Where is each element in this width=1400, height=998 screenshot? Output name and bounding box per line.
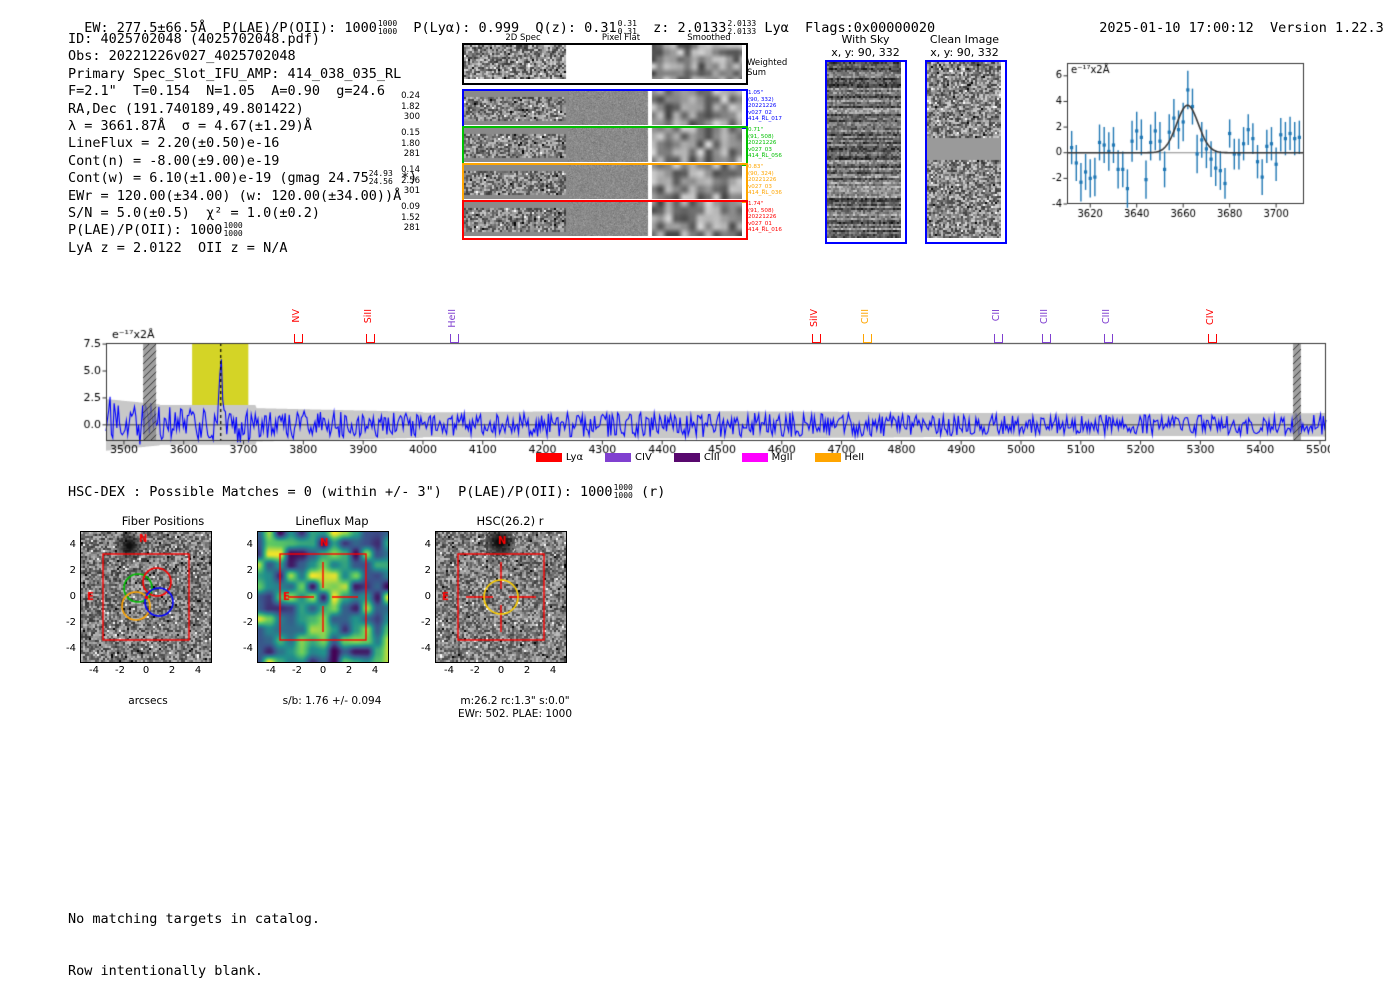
spec2d-col-header-2dspec: 2D Spec bbox=[488, 33, 558, 43]
legend-label: Lyα bbox=[566, 452, 583, 463]
spec2d-row-left-label: 0.14 2.56 301 bbox=[386, 165, 420, 197]
spec2d-row bbox=[462, 126, 748, 166]
legend-swatch bbox=[674, 453, 700, 462]
header-meta: 2025-01-10 17:00:12 Version 1.22.3 bbox=[1083, 4, 1384, 36]
hsc-r-title: HSC(26.2) r bbox=[410, 514, 610, 528]
fiber-positions-xtick: 0 bbox=[139, 665, 153, 676]
spec2d-panel-group: 2D Spec Pixel Flat Smoothed Weighted Sum… bbox=[422, 33, 812, 248]
spec2d-weighted-sum-label: Weighted Sum bbox=[747, 58, 787, 78]
spec2d-col-header-smoothed: Smoothed bbox=[674, 33, 744, 43]
info-lambda-sigma: λ = 3661.87Å σ = 4.67(±1.29)Å bbox=[68, 118, 417, 135]
lineflux-map-xtick: -4 bbox=[264, 665, 278, 676]
emission-line-tick bbox=[812, 334, 821, 343]
hscdex-plae-fraction: 10001000 bbox=[614, 484, 633, 500]
hsc-dex-summary: HSC-DEX : Possible Matches = 0 (within +… bbox=[68, 484, 665, 500]
hsc-r-caption: m:26.2 rc:1.3" s:0.0" EWr: 502. PLAE: 10… bbox=[420, 695, 610, 721]
with-sky-image bbox=[825, 60, 907, 244]
header-version: Version 1.22.3 bbox=[1270, 20, 1384, 36]
info-cont-n: Cont(n) = -8.00(±9.00)e-19 bbox=[68, 153, 417, 170]
lineflux-map-xtick: -2 bbox=[290, 665, 304, 676]
emission-line-marker-ciii: CIII bbox=[1039, 309, 1050, 324]
emission-line-tick bbox=[294, 334, 303, 343]
fiber-positions-ytick: -4 bbox=[58, 643, 76, 654]
hsc-r-ytick: 2 bbox=[413, 565, 431, 576]
emission-line-tick bbox=[450, 334, 459, 343]
lineflux-map-caption: s/b: 1.76 +/- 0.094 bbox=[242, 695, 422, 708]
emission-line-marker-cii: CII bbox=[991, 309, 1002, 321]
legend-label: MgII bbox=[772, 452, 793, 463]
emission-line-marker-ciii: CIII bbox=[860, 309, 871, 324]
with-sky-title: With Sky bbox=[818, 33, 913, 46]
hsc-r-xtick: 2 bbox=[520, 665, 534, 676]
lineflux-map-ytick: -2 bbox=[235, 617, 253, 628]
footer-line-2: Row intentionally blank. bbox=[68, 963, 320, 980]
footer-line-1: No matching targets in catalog. bbox=[68, 911, 320, 928]
info-cont-w: Cont(w) = 6.10(±1.00)e-19 (gmag 24.7524.… bbox=[68, 170, 417, 187]
fiber-positions-xtick: 2 bbox=[165, 665, 179, 676]
fiber-positions-ytick: 0 bbox=[58, 591, 76, 602]
spec2d-weighted-sum-strip bbox=[462, 43, 748, 85]
cutout-panel-group: Fiber Positions arcsecs Lineflux Map s/b… bbox=[0, 505, 1400, 745]
hsc-r-image bbox=[435, 531, 567, 663]
info-id: ID: 4025702048 (4025702048.pdf) bbox=[68, 31, 417, 48]
info-lineflux: LineFlux = 2.20(±0.50)e-16 bbox=[68, 135, 417, 152]
hsc-r-xtick: -4 bbox=[442, 665, 456, 676]
spec2d-row bbox=[462, 89, 748, 129]
clean-image-title: Clean Image bbox=[912, 33, 1017, 46]
spec2d-row-left-label: 0.09 1.52 281 bbox=[386, 202, 420, 234]
legend-label: HeII bbox=[845, 452, 865, 463]
clean-image-image bbox=[925, 60, 1007, 244]
hsc-r-ytick: -2 bbox=[413, 617, 431, 628]
spec2d-row-right-label: 1.05" (90, 332) 20221226 v027_02 414_RL_… bbox=[748, 90, 782, 123]
hsc-r-xtick: 0 bbox=[494, 665, 508, 676]
legend-swatch bbox=[815, 453, 841, 462]
emission-line-marker-siii: SiII bbox=[363, 309, 374, 323]
spec2d-row-right-label: 0.83" (90, 324) 20221226 v027_03 414_RL_… bbox=[748, 164, 782, 197]
info-plae: P(LAE)/P(OII): 100010001000 bbox=[68, 222, 417, 239]
info-radec: RA,Dec (191.740189,49.801422) bbox=[68, 101, 417, 118]
fiber-positions-xlabel: arcsecs bbox=[63, 695, 233, 708]
lineflux-map-xtick: 0 bbox=[316, 665, 330, 676]
lineflux-map-ytick: 2 bbox=[235, 565, 253, 576]
legend-swatch bbox=[605, 453, 631, 462]
info-seeing-params: F=2.1" T=0.154 N=1.05 A=0.90 g=24.6 bbox=[68, 83, 417, 100]
legend-item-lyα: Lyα bbox=[536, 452, 583, 463]
spec2d-row-right-label: 1.74" (91, 508) 20221226 v027_01 414_RL_… bbox=[748, 201, 782, 234]
lineflux-map-ytick: 4 bbox=[235, 539, 253, 550]
fiber-positions-xtick: 4 bbox=[191, 665, 205, 676]
lineflux-map-title: Lineflux Map bbox=[232, 514, 432, 528]
with-sky-subtitle: x, y: 90, 332 bbox=[818, 46, 913, 59]
spectrum-legend: LyαCIVCIIIMgIIHeII bbox=[0, 452, 1400, 463]
hsc-r-ytick: -4 bbox=[413, 643, 431, 654]
emission-line-marker-siiv: SiIV bbox=[809, 309, 820, 327]
detection-info-block: ID: 4025702048 (4025702048.pdf) Obs: 202… bbox=[68, 31, 417, 257]
legend-label: CIV bbox=[635, 452, 652, 463]
emission-line-tick bbox=[1208, 334, 1217, 343]
legend-item-mgii: MgII bbox=[742, 452, 793, 463]
spec2d-col-header-pixelflat: Pixel Flat bbox=[586, 33, 656, 43]
hsc-r-ytick: 4 bbox=[413, 539, 431, 550]
emission-line-marker-nv: NV bbox=[291, 309, 302, 323]
hsc-r-xtick: -2 bbox=[468, 665, 482, 676]
lineflux-map-ytick: 0 bbox=[235, 591, 253, 602]
spec2d-row-left-label: 0.24 1.82 300 bbox=[386, 91, 420, 123]
emission-line-zoom-plot bbox=[1035, 55, 1310, 230]
lineflux-map-image bbox=[257, 531, 389, 663]
legend-swatch bbox=[536, 453, 562, 462]
fiber-positions-ytick: 4 bbox=[58, 539, 76, 550]
header-datetime: 2025-01-10 17:00:12 bbox=[1099, 20, 1253, 36]
info-plae-fraction: 10001000 bbox=[223, 222, 242, 238]
info-redshifts: LyA z = 2.0122 OII z = N/A bbox=[68, 240, 417, 257]
footer-note: No matching targets in catalog. Row inte… bbox=[68, 876, 320, 998]
emission-line-tick bbox=[863, 334, 872, 343]
legend-label: CIII bbox=[704, 452, 720, 463]
emission-line-marker-civ: CIV bbox=[1205, 309, 1216, 325]
hsc-r-xtick: 4 bbox=[546, 665, 560, 676]
legend-item-heii: HeII bbox=[815, 452, 865, 463]
emission-line-tick bbox=[366, 334, 375, 343]
lineflux-map-ytick: -4 bbox=[235, 643, 253, 654]
emission-line-marker-ciii: CIII bbox=[1101, 309, 1112, 324]
legend-item-civ: CIV bbox=[605, 452, 652, 463]
fiber-positions-xtick: -2 bbox=[113, 665, 127, 676]
emission-line-marker-heii: HeII bbox=[447, 309, 458, 328]
lineflux-map-xtick: 2 bbox=[342, 665, 356, 676]
spec2d-row-right-label: 0.71" (91, 508) 20221226 v027_03 414_RL_… bbox=[748, 127, 782, 160]
emission-line-tick bbox=[994, 334, 1003, 343]
fiber-positions-ytick: -2 bbox=[58, 617, 76, 628]
emission-line-tick bbox=[1042, 334, 1051, 343]
info-ewr: EWr = 120.00(±34.00) (w: 120.00(±34.00))… bbox=[68, 188, 417, 205]
info-primary-spec: Primary Spec_Slot_IFU_AMP: 414_038_035_R… bbox=[68, 66, 417, 83]
fiber-positions-image bbox=[80, 531, 212, 663]
spec2d-row-left-label: 0.15 1.80 281 bbox=[386, 128, 420, 160]
legend-swatch bbox=[742, 453, 768, 462]
fiber-positions-xtick: -4 bbox=[87, 665, 101, 676]
full-spectrum-plot: NVSiIIHeIISiIVCIIICIICIIICIIICIVOIIHeIIC… bbox=[60, 305, 1330, 465]
info-obs: Obs: 20221226v027_4025702048 bbox=[68, 48, 417, 65]
spec2d-row bbox=[462, 163, 748, 203]
clean-image-subtitle: x, y: 90, 332 bbox=[912, 46, 1017, 59]
emission-line-tick bbox=[1104, 334, 1113, 343]
info-sn-chi2: S/N = 5.0(±0.5) χ² = 1.0(±0.2) bbox=[68, 205, 417, 222]
hsc-r-ytick: 0 bbox=[413, 591, 431, 602]
legend-item-ciii: CIII bbox=[674, 452, 720, 463]
fiber-positions-ytick: 2 bbox=[58, 565, 76, 576]
lineflux-map-xtick: 4 bbox=[368, 665, 382, 676]
spec2d-row bbox=[462, 200, 748, 240]
